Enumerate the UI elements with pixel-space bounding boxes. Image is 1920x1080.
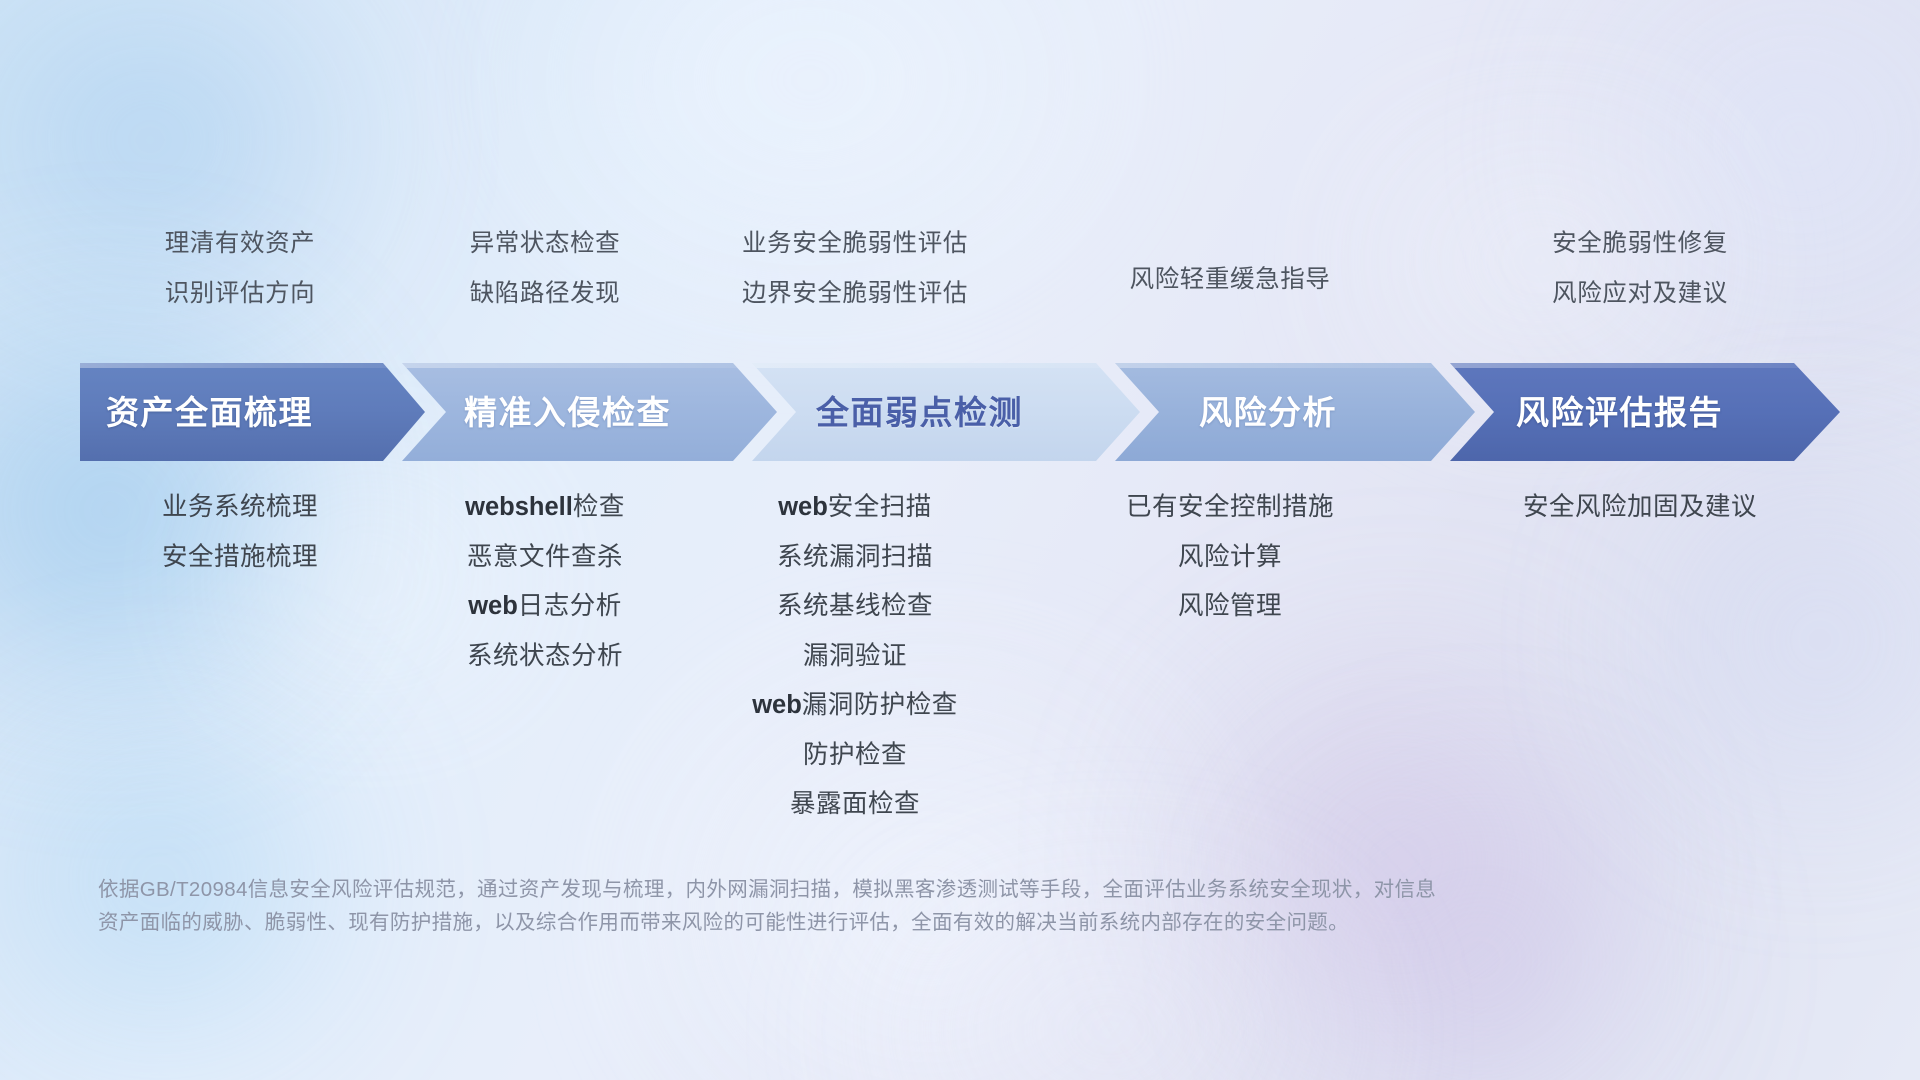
stage-outputs-row: 业务系统梳理 安全措施梳理 webshell检查 恶意文件查杀 web日志分析 … [80, 495, 1840, 818]
output-item: 暴露面检查 [790, 792, 920, 818]
input-label: 安全脆弱性修复 [1552, 232, 1728, 257]
stage-2-inputs: 异常状态检查 缺陷路径发现 [400, 232, 690, 306]
stage-title: 风险分析 [1115, 396, 1337, 429]
output-item: 安全措施梳理 [162, 545, 318, 571]
stage-title: 全面弱点检测 [752, 396, 1023, 429]
stage-inputs-row: 理清有效资产 识别评估方向 异常状态检查 缺陷路径发现 业务安全脆弱性评估 边界… [80, 232, 1840, 306]
footer-line: 资产面临的威胁、脆弱性、现有防护措施，以及综合作用而带来风险的可能性进行评估，全… [98, 906, 1628, 939]
output-item: webshell检查 [465, 495, 625, 521]
output-item: 漏洞验证 [803, 644, 907, 670]
stage-title: 风险评估报告 [1450, 396, 1723, 429]
stage-5-outputs: 安全风险加固及建议 [1440, 495, 1840, 521]
output-item: web日志分析 [468, 594, 622, 620]
input-label: 风险应对及建议 [1552, 282, 1728, 307]
stage-4-inputs: 风险轻重缓急指导 [1020, 232, 1440, 306]
process-flow-diagram: 理清有效资产 识别评估方向 异常状态检查 缺陷路径发现 业务安全脆弱性评估 边界… [0, 0, 1920, 1080]
output-item: 系统漏洞扫描 [777, 545, 933, 571]
output-item: 已有安全控制措施 [1126, 495, 1334, 521]
input-label: 边界安全脆弱性评估 [742, 282, 968, 307]
input-label: 风险轻重缓急指导 [1130, 268, 1331, 293]
output-item: 安全风险加固及建议 [1523, 495, 1757, 521]
stage-chevron-asset-inventory[interactable]: 资产全面梳理 [80, 363, 425, 461]
footer-description: 依据GB/T20984信息安全风险评估规范，通过资产发现与梳理，内外网漏洞扫描，… [98, 873, 1628, 939]
stage-chevron-risk-analysis[interactable]: 风险分析 [1115, 363, 1475, 461]
stage-1-inputs: 理清有效资产 识别评估方向 [80, 232, 400, 306]
stage-chevron-intrusion-check[interactable]: 精准入侵检查 [402, 363, 777, 461]
stage-2-outputs: webshell检查 恶意文件查杀 web日志分析 系统状态分析 [400, 495, 690, 669]
input-label: 业务安全脆弱性评估 [742, 232, 968, 257]
output-item: 业务系统梳理 [162, 495, 318, 521]
input-label: 识别评估方向 [165, 282, 316, 307]
stage-chevron-risk-report[interactable]: 风险评估报告 [1450, 363, 1840, 461]
stage-title: 资产全面梳理 [80, 396, 313, 429]
output-item: 系统基线检查 [777, 594, 933, 620]
stage-3-inputs: 业务安全脆弱性评估 边界安全脆弱性评估 [690, 232, 1020, 306]
stage-chevron-weakness-detection[interactable]: 全面弱点检测 [752, 363, 1140, 461]
stage-1-outputs: 业务系统梳理 安全措施梳理 [80, 495, 400, 570]
output-item: 风险计算 [1178, 545, 1282, 571]
input-label: 理清有效资产 [165, 232, 316, 257]
stage-3-outputs: web安全扫描 系统漏洞扫描 系统基线检查 漏洞验证 web漏洞防护检查 防护检… [690, 495, 1020, 818]
footer-line: 依据GB/T20984信息安全风险评估规范，通过资产发现与梳理，内外网漏洞扫描，… [98, 873, 1628, 906]
output-item: 恶意文件查杀 [467, 545, 623, 571]
input-label: 异常状态检查 [470, 232, 621, 257]
stage-title: 精准入侵检查 [402, 396, 671, 429]
output-item: 风险管理 [1178, 594, 1282, 620]
stage-chevron-band: 资产全面梳理 精准入侵检查 全面弱点检测 风险分析 风险评估报告 [80, 363, 1840, 461]
output-item: web漏洞防护检查 [752, 693, 958, 719]
output-item: web安全扫描 [778, 495, 932, 521]
output-item: 系统状态分析 [467, 644, 623, 670]
stage-5-inputs: 安全脆弱性修复 风险应对及建议 [1440, 232, 1840, 306]
output-item: 防护检查 [803, 743, 907, 769]
stage-4-outputs: 已有安全控制措施 风险计算 风险管理 [1020, 495, 1440, 620]
input-label: 缺陷路径发现 [470, 282, 621, 307]
